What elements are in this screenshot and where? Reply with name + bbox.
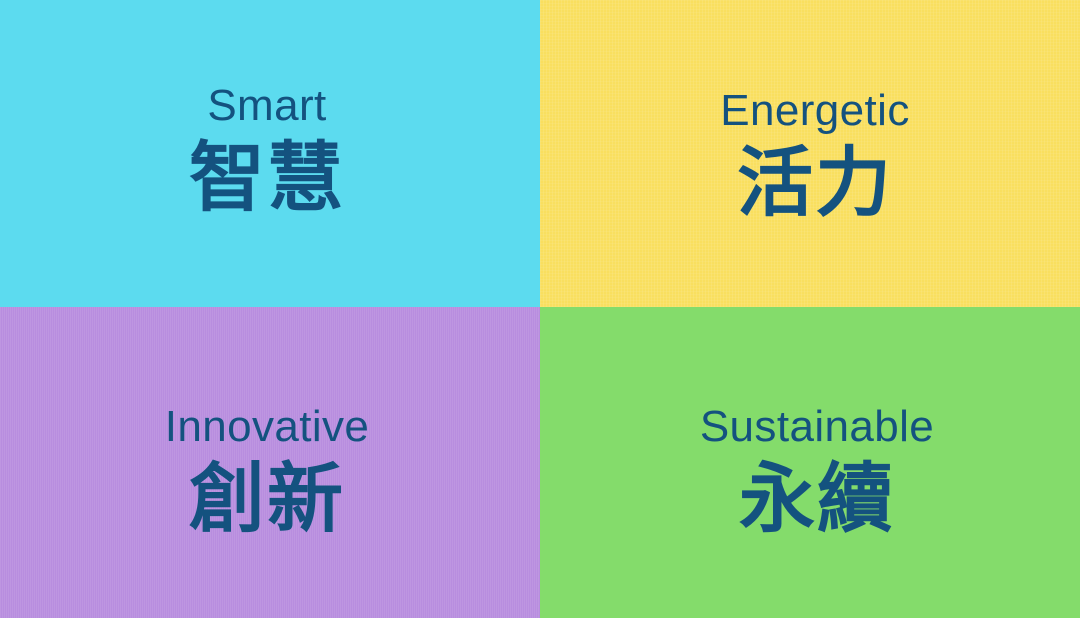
quadrant-innovative-text-stack: Innovative 創新 [165, 405, 370, 539]
quadrant-innovative-label-zh: 創新 [189, 459, 345, 539]
quadrant-sustainable-label-en: Sustainable [700, 405, 934, 449]
brand-values-quadrant-board: Smart 智慧 Energetic 活力 Innovative 創新 Sust… [0, 0, 1080, 618]
quadrant-innovative-label-en: Innovative [165, 405, 370, 449]
quadrant-sustainable-label-zh: 永續 [739, 459, 895, 539]
quadrant-smart-label-zh: 智慧 [189, 138, 345, 218]
quadrant-smart-label-en: Smart [207, 84, 326, 128]
quadrant-innovative[interactable]: Innovative 創新 [0, 307, 540, 618]
quadrant-energetic[interactable]: Energetic 活力 [540, 0, 1080, 307]
quadrant-energetic-text-stack: Energetic 活力 [720, 89, 909, 223]
quadrant-sustainable-text-stack: Sustainable 永續 [700, 405, 934, 539]
quadrant-smart[interactable]: Smart 智慧 [0, 0, 540, 307]
quadrant-smart-text-stack: Smart 智慧 [189, 84, 345, 218]
quadrant-sustainable[interactable]: Sustainable 永續 [540, 307, 1080, 618]
quadrant-energetic-label-zh: 活力 [737, 143, 893, 223]
quadrant-energetic-label-en: Energetic [720, 89, 909, 133]
